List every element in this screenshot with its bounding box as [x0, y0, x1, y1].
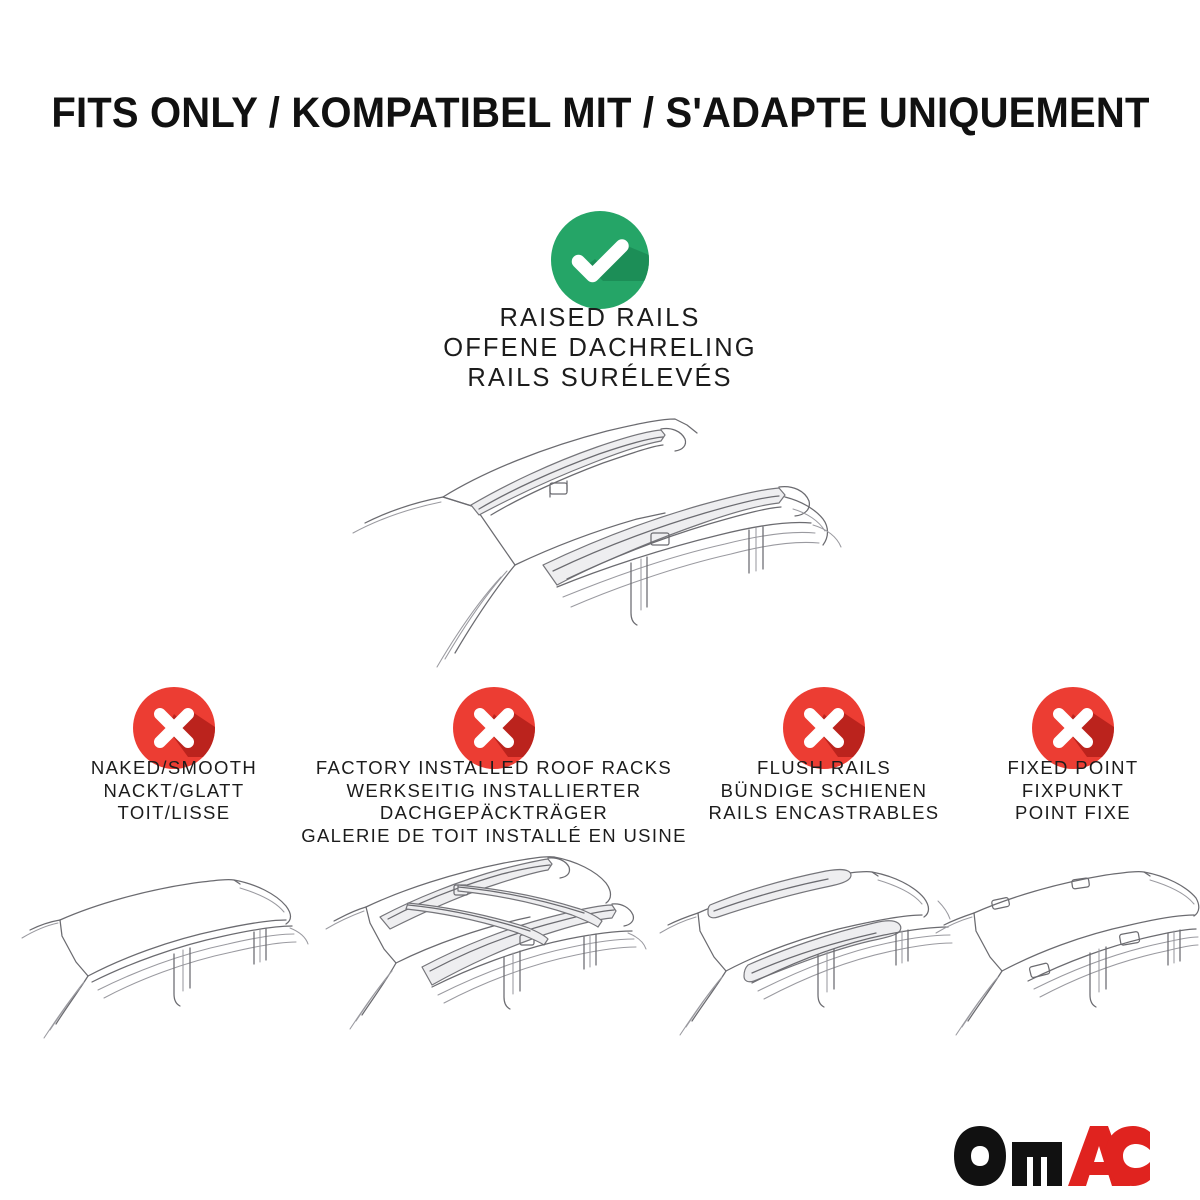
compatible-label: RAISED RAILS OFFENE DACHRELING RAILS SUR… [300, 303, 900, 393]
car-roof-raised-rails-illustration [345, 405, 885, 670]
label-line-2: WERKSEITIG INSTALLIERTER [294, 780, 694, 803]
label-line-4: GALERIE DE TOIT INSTALLÉ EN USINE [294, 825, 694, 848]
omac-logo [952, 1124, 1152, 1192]
label-line-3: DACHGEPÄCKTRÄGER [294, 802, 694, 825]
check-circle-icon-glyph [551, 211, 649, 309]
incompatible-label-naked-smooth: NAKED/SMOOTH NACKT/GLATT TOIT/LISSE [34, 757, 314, 825]
logo-letter-o [954, 1126, 1006, 1186]
label-line-3: TOIT/LISSE [34, 802, 314, 825]
incompatible-label-fixed-point: FIXED POINT FIXPUNKT POINT FIXE [943, 757, 1200, 825]
label-line-3: POINT FIXE [943, 802, 1200, 825]
label-line-2: BÜNDIGE SCHIENEN [674, 780, 974, 803]
label-line-1: FLUSH RAILS [674, 757, 974, 780]
label-line-1: FIXED POINT [943, 757, 1200, 780]
incompatible-label-flush-rails: FLUSH RAILS BÜNDIGE SCHIENEN RAILS ENCAS… [674, 757, 974, 825]
label-line-3: RAILS ENCASTRABLES [674, 802, 974, 825]
page-title-text: FITS ONLY / KOMPATIBEL MIT / S'ADAPTE UN… [51, 88, 1149, 138]
car-roof-bare-illustration [18, 858, 310, 1048]
car-roof-fixed-points-illustration [930, 855, 1198, 1045]
label-line-1: FACTORY INSTALLED ROOF RACKS [294, 757, 694, 780]
car-roof-flush-rails-illustration [652, 855, 952, 1045]
car-roof-factory-crossbars-illustration [308, 845, 648, 1045]
label-line-1: NAKED/SMOOTH [34, 757, 314, 780]
compatible-label-line-1: RAISED RAILS [300, 303, 900, 333]
check-circle-icon [551, 211, 649, 309]
label-line-2: NACKT/GLATT [34, 780, 314, 803]
label-line-2: FIXPUNKT [943, 780, 1200, 803]
logo-letter-m [1012, 1142, 1062, 1186]
page-title: FITS ONLY / KOMPATIBEL MIT / S'ADAPTE UN… [0, 88, 1200, 138]
compatible-label-line-3: RAILS SURÉLEVÉS [300, 363, 900, 393]
omac-logo-glyph [952, 1124, 1152, 1192]
compatible-label-line-2: OFFENE DACHRELING [300, 333, 900, 363]
incompatible-label-factory-racks: FACTORY INSTALLED ROOF RACKS WERKSEITIG … [294, 757, 694, 847]
